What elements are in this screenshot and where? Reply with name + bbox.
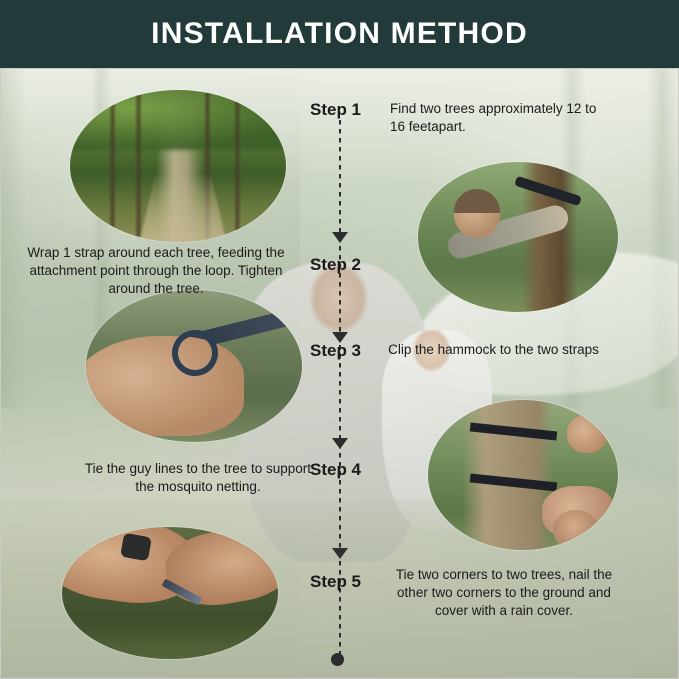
step-label-3: Step 3 [310, 341, 361, 361]
step-label-2: Step 2 [310, 255, 361, 275]
person-hair [454, 189, 500, 213]
strap-around-tree-image [418, 162, 618, 312]
wristwatch [121, 533, 153, 561]
ground-stake-photo [62, 527, 278, 659]
hand [567, 415, 607, 453]
step-caption-3: Clip the hammock to the two straps [386, 341, 601, 359]
strap-around-tree-photo [418, 162, 618, 312]
forest-trail-photo [70, 90, 286, 242]
arrow-down-icon [332, 548, 348, 559]
step-label-5: Step 5 [310, 572, 361, 592]
step-caption-5: Tie two corners to two trees, nail the o… [384, 566, 624, 621]
forest-trail-image [70, 90, 286, 242]
dirt-trail [134, 173, 231, 242]
flow-end-dot [331, 653, 344, 666]
hand [86, 336, 244, 436]
trunk-strapping-image [428, 400, 618, 550]
tree-strap [470, 473, 558, 491]
step-label-1: Step 1 [310, 100, 361, 120]
page-title: INSTALLATION METHOD [151, 17, 528, 51]
tree-trunk [135, 90, 142, 242]
carabiner-clip-photo [86, 290, 302, 442]
tree-trunk [234, 90, 241, 242]
step-caption-4: Tie the guy lines to the tree to support… [80, 460, 316, 496]
installation-poster: INSTALLATION METHOD [0, 0, 679, 679]
arrow-down-icon [332, 438, 348, 449]
trunk-strapping-photo [428, 400, 618, 550]
header-bar: INSTALLATION METHOD [0, 0, 679, 68]
tree-strap [470, 422, 558, 440]
canopy-foliage [70, 90, 286, 150]
arrow-down-icon [332, 232, 348, 243]
tree-trunk [109, 90, 116, 242]
step-caption-2: Wrap 1 strap around each tree, feeding t… [14, 244, 298, 299]
carabiner-clip-image [86, 290, 302, 442]
person-head [553, 510, 599, 550]
tree-strap [514, 176, 582, 207]
ground-stake-image [62, 527, 278, 659]
step-caption-1: Find two trees approximately 12 to 16 fe… [390, 100, 605, 136]
step-label-4: Step 4 [310, 460, 361, 480]
